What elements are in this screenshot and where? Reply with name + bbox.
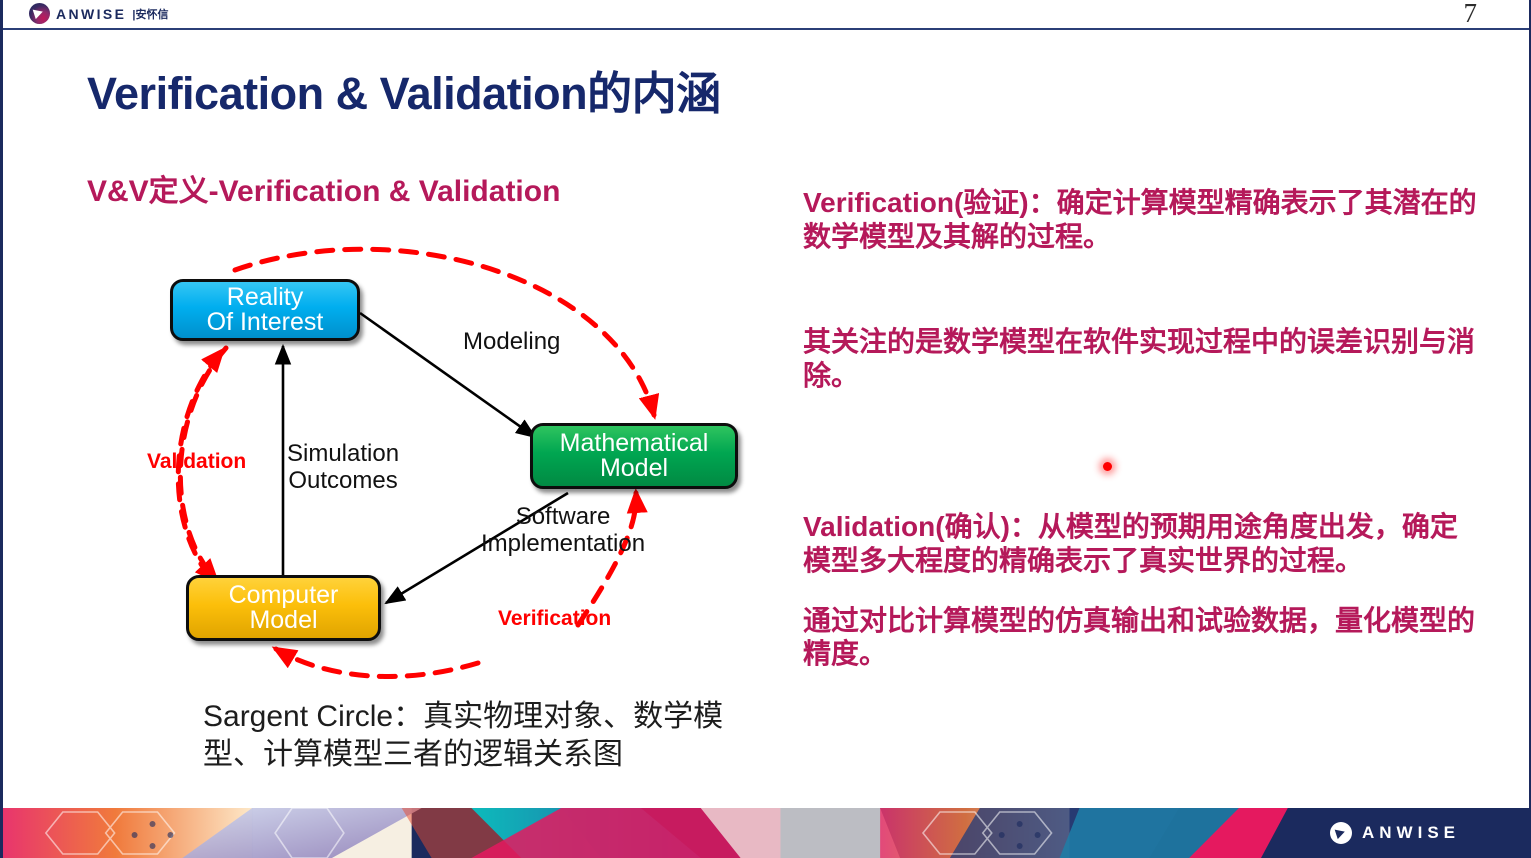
label-modeling: Modeling [463, 328, 560, 355]
label-software-implementation: Software Implementation [481, 503, 645, 558]
header-brand-name: ANWISE [56, 6, 126, 22]
node-reality-of-interest[interactable]: Reality Of Interest [170, 279, 360, 341]
label-simulation-outcomes: Simulation Outcomes [287, 440, 399, 495]
node-line-1: Computer [229, 583, 339, 609]
definitions-column: Verification(验证)：确定计算模型精确表示了其潜在的数学模型及其解的… [803, 186, 1483, 693]
anwise-swoosh-icon [1330, 822, 1352, 844]
label-line-2: Implementation [481, 530, 645, 557]
laser-pointer-dot [1103, 462, 1112, 471]
paragraph-verification-focus: 其关注的是数学模型在软件实现过程中的误差识别与消除。 [803, 325, 1483, 392]
node-line-2: Model [600, 456, 668, 482]
label-line-1: Simulation [287, 440, 399, 467]
label-line-2: Outcomes [287, 467, 399, 494]
sargent-circle-diagram: Reality Of Interest Mathematical Model C… [98, 225, 778, 695]
loop-verification-bottom [276, 649, 478, 677]
label-validation: Validation [147, 450, 246, 474]
header-logo: ANWISE |安怀信 [29, 3, 168, 24]
label-verification: Verification [498, 607, 611, 631]
paragraph-validation-definition: Validation(确认)：从模型的预期用途角度出发，确定模型多大程度的精确表… [803, 510, 1483, 577]
anwise-swoosh-icon [29, 3, 50, 24]
slide-canvas: ANWISE |安怀信 7 Verification & Validation的… [0, 0, 1531, 858]
node-line-1: Mathematical [560, 431, 709, 457]
page-title: Verification & Validation的内涵 [87, 57, 721, 122]
node-mathematical-model[interactable]: Mathematical Model [530, 423, 738, 489]
footer-logo: ANWISE [1261, 808, 1529, 858]
slide-footer: ANWISE [3, 808, 1529, 858]
node-line-1: Reality [227, 285, 303, 311]
label-line-1: Software [481, 503, 645, 530]
slide-header: ANWISE |安怀信 7 [3, 0, 1529, 30]
header-brand-name-cn: |安怀信 [132, 6, 168, 22]
diagram-caption: Sargent Circle：真实物理对象、数学模型、计算模型三者的逻辑关系图 [203, 698, 763, 773]
footer-brand-name: ANWISE [1362, 823, 1460, 843]
node-computer-model[interactable]: Computer Model [186, 575, 381, 641]
page-number: 7 [1464, 0, 1478, 29]
paragraph-validation-method: 通过对比计算模型的仿真输出和试验数据，量化模型的精度。 [803, 604, 1483, 671]
node-line-2: Model [249, 608, 317, 634]
paragraph-verification-definition: Verification(验证)：确定计算模型精确表示了其潜在的数学模型及其解的… [803, 186, 1483, 253]
node-line-2: Of Interest [207, 310, 324, 336]
section-title: V&V定义-Verification & Validation [87, 166, 560, 210]
